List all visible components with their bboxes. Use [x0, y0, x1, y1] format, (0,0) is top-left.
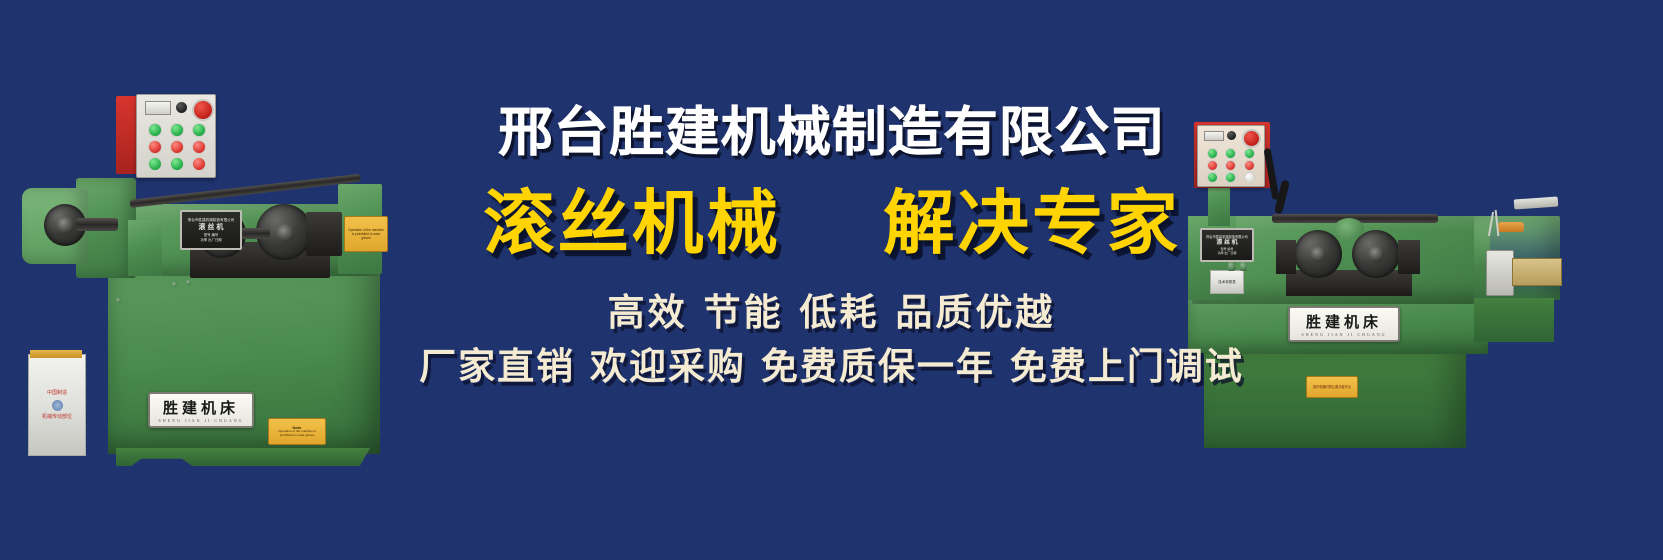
headline-row: 滚丝机械 解决专家: [486, 184, 1178, 262]
machine-left-panel-side: [116, 96, 138, 174]
panel-button-8[interactable]: [170, 157, 184, 171]
spec-line-2: 滚 丝 机: [1216, 240, 1237, 248]
machine-right-image: 邢台市胜建机械制造有限公司 滚 丝 机 型号 编号 功率 出厂日期 技术参数表 …: [1168, 120, 1648, 452]
machine-left-drive-hub: [56, 216, 74, 234]
machine-left-roller-cover: [306, 212, 342, 256]
panel-button-7[interactable]: [148, 157, 162, 171]
spec-line-4: 功率 出厂日期: [200, 238, 221, 242]
panel-button-grid[interactable]: [1203, 147, 1259, 183]
panel-button-grid[interactable]: [144, 122, 210, 172]
machine-left-foot: [116, 448, 370, 466]
nameplate-pinyin: SHENG JIAN JI CHUANG: [1302, 332, 1387, 337]
machine-right-panel-stand: [1208, 182, 1230, 226]
panel-button-9[interactable]: [192, 157, 206, 171]
panel-emergency-stop-button[interactable]: [1242, 129, 1261, 148]
machine-right-roller-1-hub: [1310, 246, 1326, 262]
machine-right-brass-plate: [1512, 258, 1562, 286]
panel-button-4[interactable]: [148, 140, 162, 154]
panel-button-2[interactable]: [170, 123, 184, 137]
spec-line-2: 滚 丝 机: [199, 224, 224, 233]
machine-left-bolt-1: [172, 282, 177, 287]
machine-right-parameter-plate: 技术参数表: [1210, 270, 1244, 294]
machine-left-warn-label-body: Note Operation of the machine is prohibi…: [268, 418, 326, 445]
machine-left-bolt-3: [116, 298, 121, 303]
headline-left: 滚丝机械: [483, 184, 781, 262]
machine-right-knob-1: [1228, 262, 1235, 271]
nameplate-cn: 胜建机床: [1306, 311, 1382, 332]
company-name: 邢台胜建机械制造有限公司: [498, 104, 1165, 162]
cabinet-text-2: 机械传动部位: [42, 414, 72, 421]
panel-emergency-stop-button[interactable]: [192, 99, 214, 121]
spec-line-4: 功率 出厂日期: [1218, 252, 1237, 256]
panel-button-3[interactable]: [1244, 148, 1255, 159]
panel-button-3[interactable]: [192, 123, 206, 137]
promo-banner: 中国制造 机械传动部位: [0, 0, 1663, 560]
cabinet-text-1: 中国制造: [47, 390, 67, 397]
warn-top-text: Operation of the machine is prohibited t…: [345, 228, 387, 240]
machine-right-terminal-block: [1498, 222, 1524, 232]
warn-body-text: Operation of the machine is prohibited t…: [269, 430, 325, 438]
machine-left-drive-shaft: [76, 218, 118, 231]
panel-button-7[interactable]: [1207, 172, 1218, 183]
panel-button-9[interactable]: [1244, 172, 1255, 183]
panel-selector-knob: [176, 102, 187, 113]
panel-button-2[interactable]: [1225, 148, 1236, 159]
panel-button-5[interactable]: [1225, 160, 1236, 171]
machine-left-panel-stand: [128, 220, 162, 276]
machine-left-spec-plate: 邢台市胜建机械制造有限公司 滚 丝 机 型号 编号 功率 出厂日期: [180, 210, 242, 250]
panel-selector-knob: [1227, 131, 1236, 140]
machine-left-bolt-2: [186, 280, 191, 285]
machine-right-spec-plate: 邢台市胜建机械制造有限公司 滚 丝 机 型号 编号 功率 出厂日期: [1200, 228, 1254, 262]
machine-right-knob-2: [1240, 262, 1247, 271]
machine-right-slide-left: [1276, 240, 1296, 274]
machine-left-top-rod: [130, 174, 361, 208]
machine-right-oil-unit: [1486, 250, 1514, 296]
machine-left-roller-2-hub: [276, 224, 294, 242]
machine-right-roller-2-hub: [1368, 246, 1384, 262]
machine-left-image: 中国制造 机械传动部位: [20, 92, 410, 472]
panel-button-5[interactable]: [170, 140, 184, 154]
warn-label-body: 操作机器时禁止戴手套作业: [1311, 385, 1353, 389]
machine-right-feed-arm: [1514, 196, 1559, 209]
panel-button-6[interactable]: [192, 140, 206, 154]
machine-left-nameplate: 胜建机床 SHENG JIAN JI CHUANG: [148, 392, 254, 428]
subtitle-line-1: 高效 节能 低耗 品质优越: [608, 290, 1056, 334]
panel-button-1[interactable]: [148, 123, 162, 137]
machine-left-warn-label-top: Operation of the machine is prohibited t…: [344, 216, 388, 252]
machine-right-extension-base: [1474, 298, 1554, 342]
machine-right-nameplate: 胜建机床 SHENG JIAN JI CHUANG: [1288, 306, 1400, 342]
parameter-plate-text: 技术参数表: [1218, 280, 1236, 285]
nameplate-cn: 胜建机床: [163, 397, 239, 418]
subtitle-line-2: 厂家直销 欢迎采购 免费质保一年 免费上门调试: [419, 344, 1244, 388]
machine-right-handwheel: [1334, 218, 1364, 240]
machine-left-roller-linkshaft: [240, 228, 270, 239]
spec-line-1: 邢台市胜建机械制造有限公司: [1206, 235, 1247, 239]
panel-button-1[interactable]: [1207, 148, 1218, 159]
spec-line-1: 邢台市胜建机械制造有限公司: [188, 218, 235, 222]
machine-left-cabinet-top-strip: [30, 350, 82, 358]
panel-display: [145, 101, 171, 115]
machine-left-control-panel: [136, 94, 216, 178]
headline-right: 解决专家: [883, 184, 1181, 262]
machine-right-warn-label: 操作机器时禁止戴手套作业: [1306, 376, 1358, 398]
panel-button-4[interactable]: [1207, 160, 1218, 171]
panel-button-8[interactable]: [1225, 172, 1236, 183]
panel-button-6[interactable]: [1244, 160, 1255, 171]
machine-right-control-panel: [1197, 125, 1265, 187]
nameplate-pinyin: SHENG JIAN JI CHUANG: [159, 418, 244, 423]
machine-right-slide-right: [1398, 240, 1420, 274]
cabinet-fan-icon: [52, 400, 63, 411]
machine-left-electrical-cabinet: 中国制造 机械传动部位: [28, 354, 86, 456]
panel-display: [1204, 131, 1224, 141]
